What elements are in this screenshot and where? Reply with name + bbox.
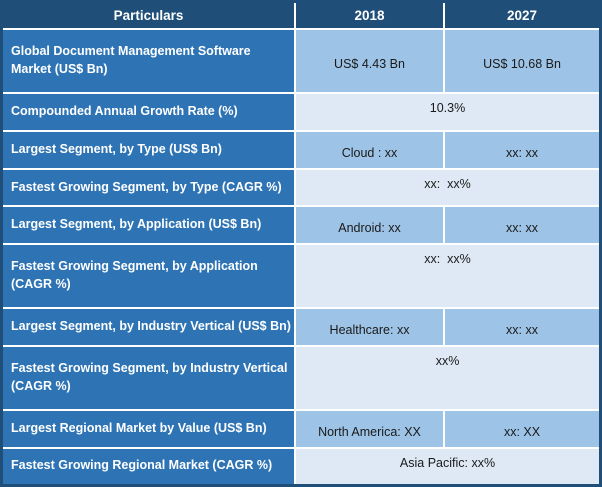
row-value-merged: xx: xx% (295, 169, 599, 207)
table-row: Fastest Growing Segment, by Industry Ver… (3, 346, 599, 410)
column-header-2018: 2018 (295, 3, 444, 29)
row-value-2027: xx: xx (444, 308, 599, 346)
row-label: Fastest Growing Segment, by Industry Ver… (3, 346, 295, 410)
table-body: Global Document Management Software Mark… (3, 29, 599, 484)
row-label: Fastest Growing Segment, by Application … (3, 244, 295, 308)
row-value-merged: xx% (295, 346, 599, 410)
table-row: Fastest Growing Segment, by Type (CAGR %… (3, 169, 599, 207)
row-value-2027: US$ 10.68 Bn (444, 29, 599, 93)
market-summary-table-frame: Particulars 2018 2027 Global Document Ma… (0, 0, 602, 487)
row-label: Largest Segment, by Industry Vertical (U… (3, 308, 295, 346)
row-value-2018: Cloud : xx (295, 131, 444, 169)
row-value-2027: xx: xx (444, 206, 599, 244)
row-value-merged-text: xx: xx% (300, 177, 595, 191)
row-label: Largest Regional Market by Value (US$ Bn… (3, 410, 295, 448)
row-label: Fastest Growing Regional Market (CAGR %) (3, 448, 295, 484)
table-row: Largest Segment, by Application (US$ Bn)… (3, 206, 599, 244)
row-value-merged-text: xx% (300, 354, 595, 368)
table-row: Fastest Growing Regional Market (CAGR %)… (3, 448, 599, 484)
table-header: Particulars 2018 2027 (3, 3, 599, 29)
row-label: Largest Segment, by Type (US$ Bn) (3, 131, 295, 169)
table-row: Largest Regional Market by Value (US$ Bn… (3, 410, 599, 448)
row-value-2018: Android: xx (295, 206, 444, 244)
column-header-particulars: Particulars (3, 3, 295, 29)
table-row: Largest Segment, by Industry Vertical (U… (3, 308, 599, 346)
row-value-2018: US$ 4.43 Bn (295, 29, 444, 93)
table-header-row: Particulars 2018 2027 (3, 3, 599, 29)
row-value-merged: Asia Pacific: xx% (295, 448, 599, 484)
row-label: Global Document Management Software Mark… (3, 29, 295, 93)
table-row: Largest Segment, by Type (US$ Bn)Cloud :… (3, 131, 599, 169)
row-value-merged-text: Asia Pacific: xx% (300, 456, 595, 470)
row-label: Largest Segment, by Application (US$ Bn) (3, 206, 295, 244)
table-row: Fastest Growing Segment, by Application … (3, 244, 599, 308)
row-value-merged: 10.3% (295, 93, 599, 131)
row-value-2018: North America: XX (295, 410, 444, 448)
row-label: Compounded Annual Growth Rate (%) (3, 93, 295, 131)
table-row: Global Document Management Software Mark… (3, 29, 599, 93)
row-value-2018: Healthcare: xx (295, 308, 444, 346)
market-summary-table: Particulars 2018 2027 Global Document Ma… (3, 3, 599, 484)
row-value-2027: xx: xx (444, 131, 599, 169)
row-label: Fastest Growing Segment, by Type (CAGR %… (3, 169, 295, 207)
table-row: Compounded Annual Growth Rate (%)10.3% (3, 93, 599, 131)
row-value-merged-text: xx: xx% (300, 252, 595, 266)
column-header-2027: 2027 (444, 3, 599, 29)
row-value-merged-text: 10.3% (300, 101, 595, 115)
row-value-2027: xx: XX (444, 410, 599, 448)
row-value-merged: xx: xx% (295, 244, 599, 308)
